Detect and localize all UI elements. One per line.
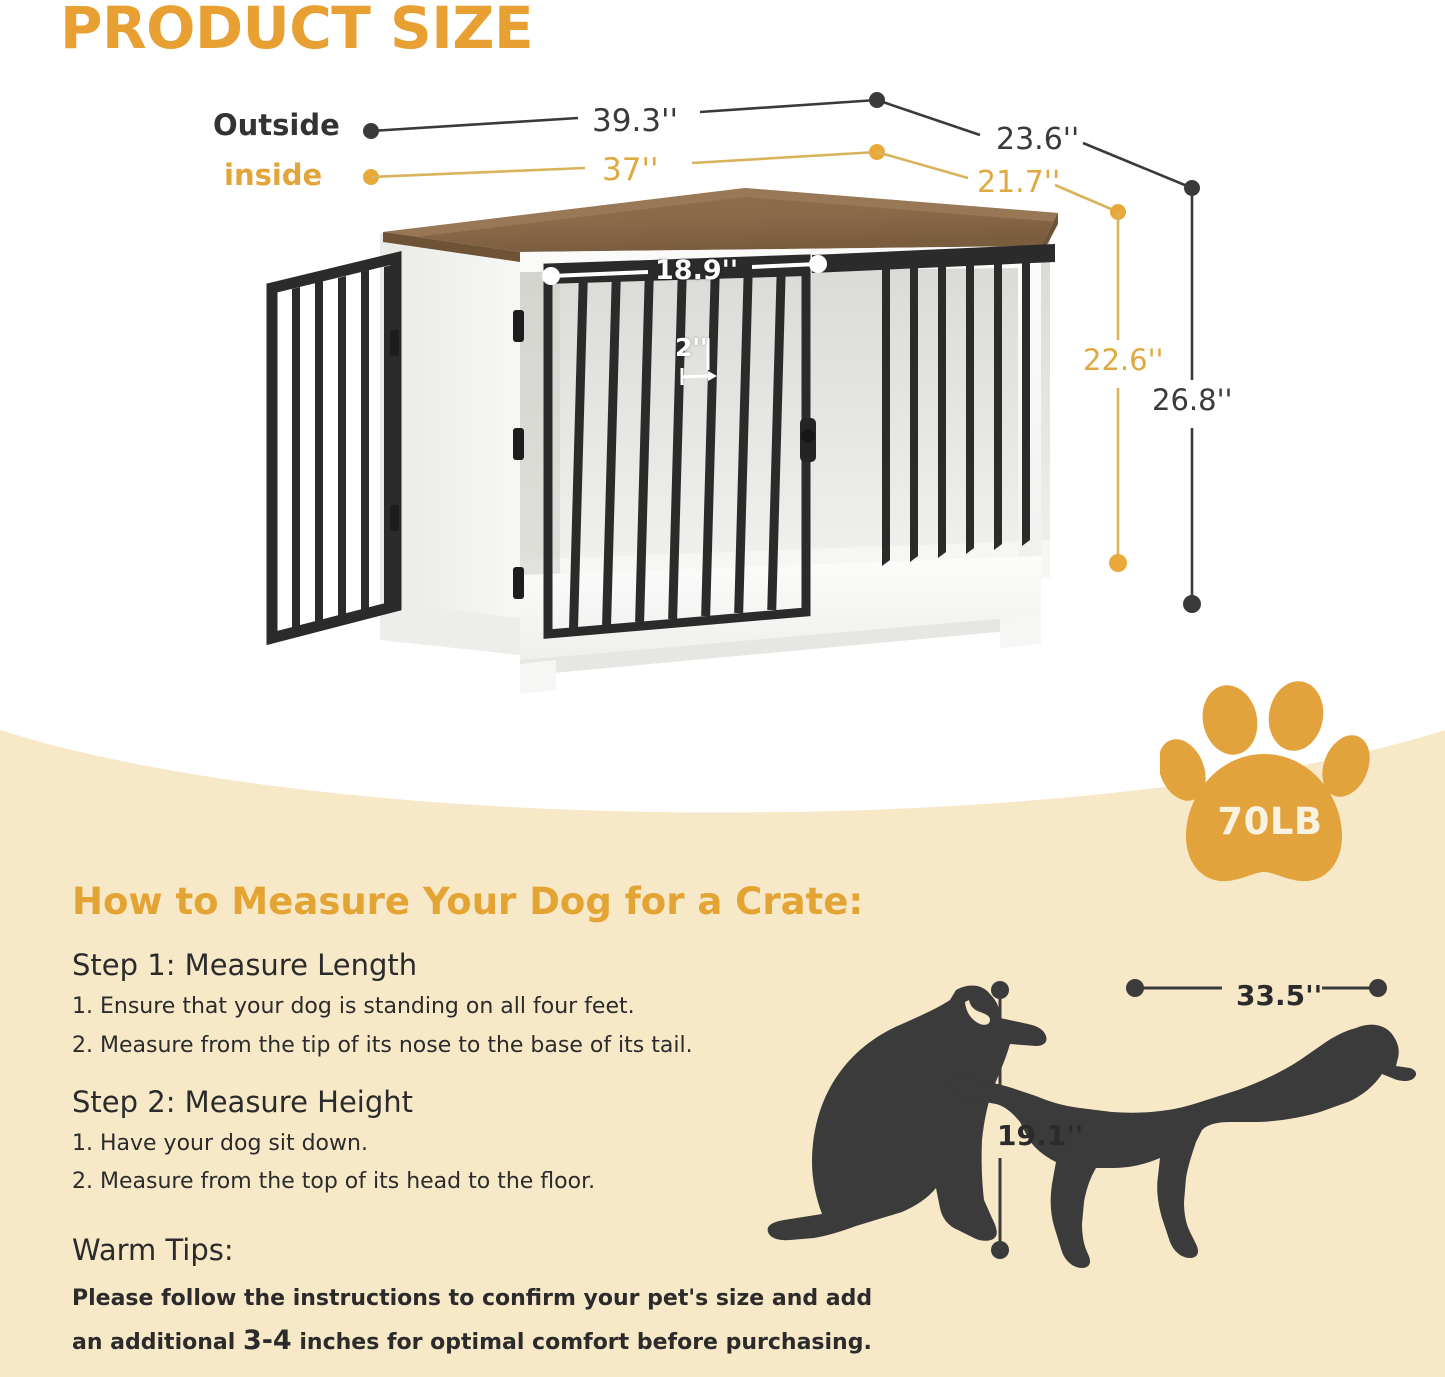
warm-tips-emphasis: 3-4 xyxy=(243,1325,292,1356)
step-2-line-2: 2. Measure from the top of its head to t… xyxy=(72,1169,595,1194)
warm-tips-line-2-pre: an additional xyxy=(72,1330,243,1355)
warm-tips-line-2: an additional 3-4 inches for optimal com… xyxy=(72,1325,872,1356)
dimension-line-inside-height xyxy=(1109,212,1127,572)
warm-tips-line-1: Please follow the instructions to confir… xyxy=(72,1286,872,1311)
step-1-heading: Step 1: Measure Length xyxy=(72,948,417,982)
dog-length-label: 33.5'' xyxy=(1236,979,1322,1012)
dimension-inside-depth: 21.7'' xyxy=(977,165,1060,200)
step-2-line-1: 1. Have your dog sit down. xyxy=(72,1131,368,1156)
step-1-line-1: 1. Ensure that your dog is standing on a… xyxy=(72,994,635,1019)
warm-tips-heading: Warm Tips: xyxy=(72,1233,234,1267)
dog-height-label: 19.1'' xyxy=(997,1119,1083,1152)
dimension-outside-width: 39.3'' xyxy=(592,103,678,139)
capacity-weight-label: 70LB xyxy=(1180,800,1360,843)
dimension-door-width: 18.9'' xyxy=(655,255,738,286)
dimension-inside-height: 22.6'' xyxy=(1083,343,1164,377)
legend-inside-label: inside xyxy=(224,158,322,192)
door-hinge-icon xyxy=(390,505,399,531)
step-2-heading: Step 2: Measure Height xyxy=(72,1085,413,1119)
door-hinge-icon xyxy=(390,330,399,356)
warm-tips-line-2-post: inches for optimal comfort before purcha… xyxy=(292,1330,872,1355)
paw-print-icon xyxy=(1160,672,1380,897)
dimension-outside-height: 26.8'' xyxy=(1152,383,1233,417)
dimension-bar-spacing: 2'' xyxy=(675,333,708,362)
dimension-inside-width: 37'' xyxy=(602,152,659,188)
step-1-line-2: 2. Measure from the tip of its nose to t… xyxy=(72,1033,693,1058)
dimension-outside-depth: 23.6'' xyxy=(996,122,1079,157)
crate-open-side-door[interactable] xyxy=(272,258,399,638)
dog-sitting-silhouette-icon xyxy=(768,985,1047,1240)
howto-section-title: How to Measure Your Dog for a Crate: xyxy=(72,880,863,923)
legend-outside-label: Outside xyxy=(213,108,340,142)
infographic-root: PRODUCT SIZE xyxy=(0,0,1445,1377)
